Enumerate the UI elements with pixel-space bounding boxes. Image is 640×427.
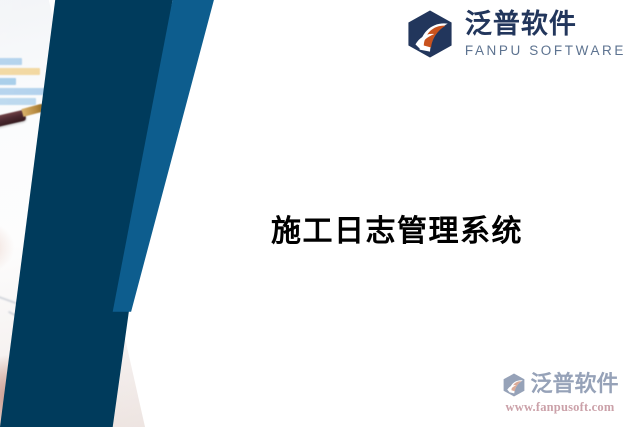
fanpu-watermark-logo-icon xyxy=(501,372,527,398)
photo-bar-2 xyxy=(0,68,40,75)
watermark: 泛普软件 www.fanpusoft.com xyxy=(490,372,630,415)
brand-text: 泛普软件 FANPU SOFTWARE xyxy=(465,11,626,58)
page-title: 施工日志管理系统 xyxy=(232,206,562,250)
watermark-logo-row: 泛普软件 xyxy=(490,372,630,398)
photo-bar-1 xyxy=(0,58,22,65)
brand-logo: 泛普软件 FANPU SOFTWARE xyxy=(404,8,626,60)
watermark-name: 泛普软件 xyxy=(530,374,618,396)
brand-name-cn: 泛普软件 xyxy=(465,11,626,38)
left-decoration-art xyxy=(0,0,230,427)
brand-name-en: FANPU SOFTWARE xyxy=(465,44,626,58)
title-slide: 泛普软件 FANPU SOFTWARE 施工日志管理系统 泛普软件 www.fa… xyxy=(0,0,640,427)
watermark-url: www.fanpusoft.com xyxy=(490,400,630,415)
photo-pen xyxy=(0,110,26,134)
photo-bar-5 xyxy=(0,98,36,105)
fanpu-hexagon-logo-icon xyxy=(404,8,456,60)
photo-bar-3 xyxy=(0,78,16,85)
